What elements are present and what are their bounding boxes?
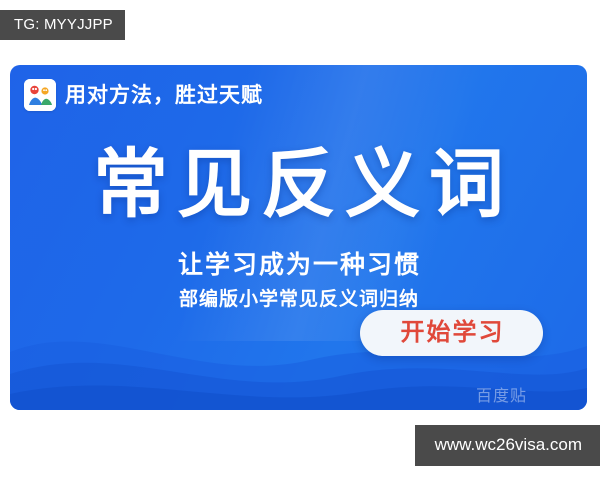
banner-description: 部编版小学常见反义词归纳 [10,284,587,311]
telegram-watermark: TG: MYYJJPP [0,10,125,40]
banner-subheadline: 让学习成为一种习惯 [10,245,587,281]
brand-row: 用对方法，胜过天赋 [24,79,263,111]
app-logo-icon [24,79,56,111]
site-watermark: www.wc26visa.com [415,425,600,466]
source-watermark: 百度贴 [476,382,527,406]
promo-banner[interactable]: 用对方法，胜过天赋 常见反义词 让学习成为一种习惯 部编版小学常见反义词归纳 百… [10,65,587,410]
start-learning-label: 开始学习 [399,321,505,345]
brand-title: 用对方法，胜过天赋 [65,85,263,106]
start-learning-button[interactable]: 开始学习 [360,310,543,356]
banner-headline: 常见反义词 [10,145,587,224]
